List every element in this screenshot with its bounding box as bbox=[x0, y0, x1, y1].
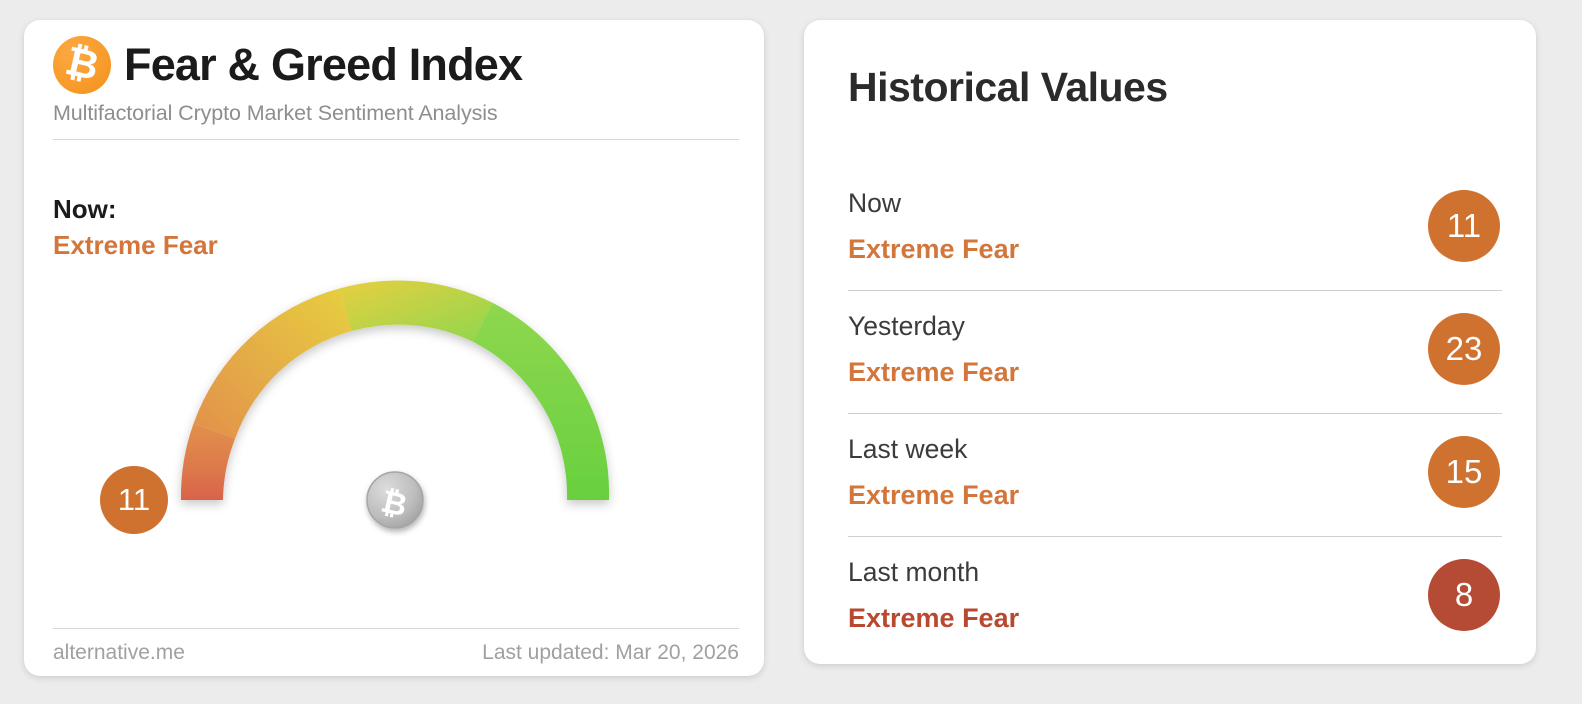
screen: ₿ Fear & Greed Index Multifactorial Cryp… bbox=[0, 0, 1582, 704]
historical-values-title: Historical Values bbox=[848, 64, 1168, 111]
header-divider bbox=[53, 139, 739, 140]
gauge-hub: ₿ bbox=[367, 472, 423, 528]
last-updated-text: Last updated: Mar 20, 2026 bbox=[482, 641, 739, 665]
history-period-label: Last week bbox=[848, 434, 967, 465]
title-row: ₿ Fear & Greed Index bbox=[53, 36, 740, 94]
card-footer: alternative.me Last updated: Mar 20, 202… bbox=[53, 628, 739, 665]
historical-values-card: Historical Values NowExtreme Fear11Yeste… bbox=[804, 20, 1536, 664]
history-row: NowExtreme Fear11 bbox=[848, 168, 1502, 291]
footer-row: alternative.me Last updated: Mar 20, 202… bbox=[53, 641, 739, 665]
history-value-badge: 8 bbox=[1428, 559, 1500, 631]
current-reading: Now: Extreme Fear bbox=[53, 194, 218, 260]
gauge-value-badge: 11 bbox=[100, 466, 168, 534]
history-value-badge: 23 bbox=[1428, 313, 1500, 385]
card-header: ₿ Fear & Greed Index Multifactorial Cryp… bbox=[53, 36, 740, 140]
source-link[interactable]: alternative.me bbox=[53, 641, 185, 665]
bitcoin-icon: ₿ bbox=[53, 36, 111, 94]
history-row: YesterdayExtreme Fear23 bbox=[848, 291, 1502, 414]
now-classification: Extreme Fear bbox=[53, 230, 218, 261]
history-classification: Extreme Fear bbox=[848, 357, 1019, 388]
gauge-svg: ₿ bbox=[80, 258, 710, 618]
history-value-badge: 15 bbox=[1428, 436, 1500, 508]
history-period-label: Last month bbox=[848, 557, 979, 588]
bitcoin-glyph: ₿ bbox=[47, 30, 117, 100]
history-classification: Extreme Fear bbox=[848, 603, 1019, 634]
footer-divider bbox=[53, 628, 739, 629]
history-period-label: Yesterday bbox=[848, 311, 965, 342]
history-row: Last monthExtreme Fear8 bbox=[848, 537, 1502, 660]
history-classification: Extreme Fear bbox=[848, 480, 1019, 511]
fear-greed-gauge-card: ₿ Fear & Greed Index Multifactorial Cryp… bbox=[24, 20, 764, 676]
page-title: Fear & Greed Index bbox=[124, 39, 522, 91]
history-value-badge: 11 bbox=[1428, 190, 1500, 262]
historical-values-list: NowExtreme Fear11YesterdayExtreme Fear23… bbox=[848, 168, 1502, 660]
gauge-arc bbox=[181, 280, 609, 500]
now-label: Now: bbox=[53, 194, 218, 225]
history-period-label: Now bbox=[848, 188, 901, 219]
gauge-chart: ₿ 11 bbox=[80, 258, 710, 618]
page-subtitle: Multifactorial Crypto Market Sentiment A… bbox=[53, 101, 740, 126]
history-row: Last weekExtreme Fear15 bbox=[848, 414, 1502, 537]
history-classification: Extreme Fear bbox=[848, 234, 1019, 265]
